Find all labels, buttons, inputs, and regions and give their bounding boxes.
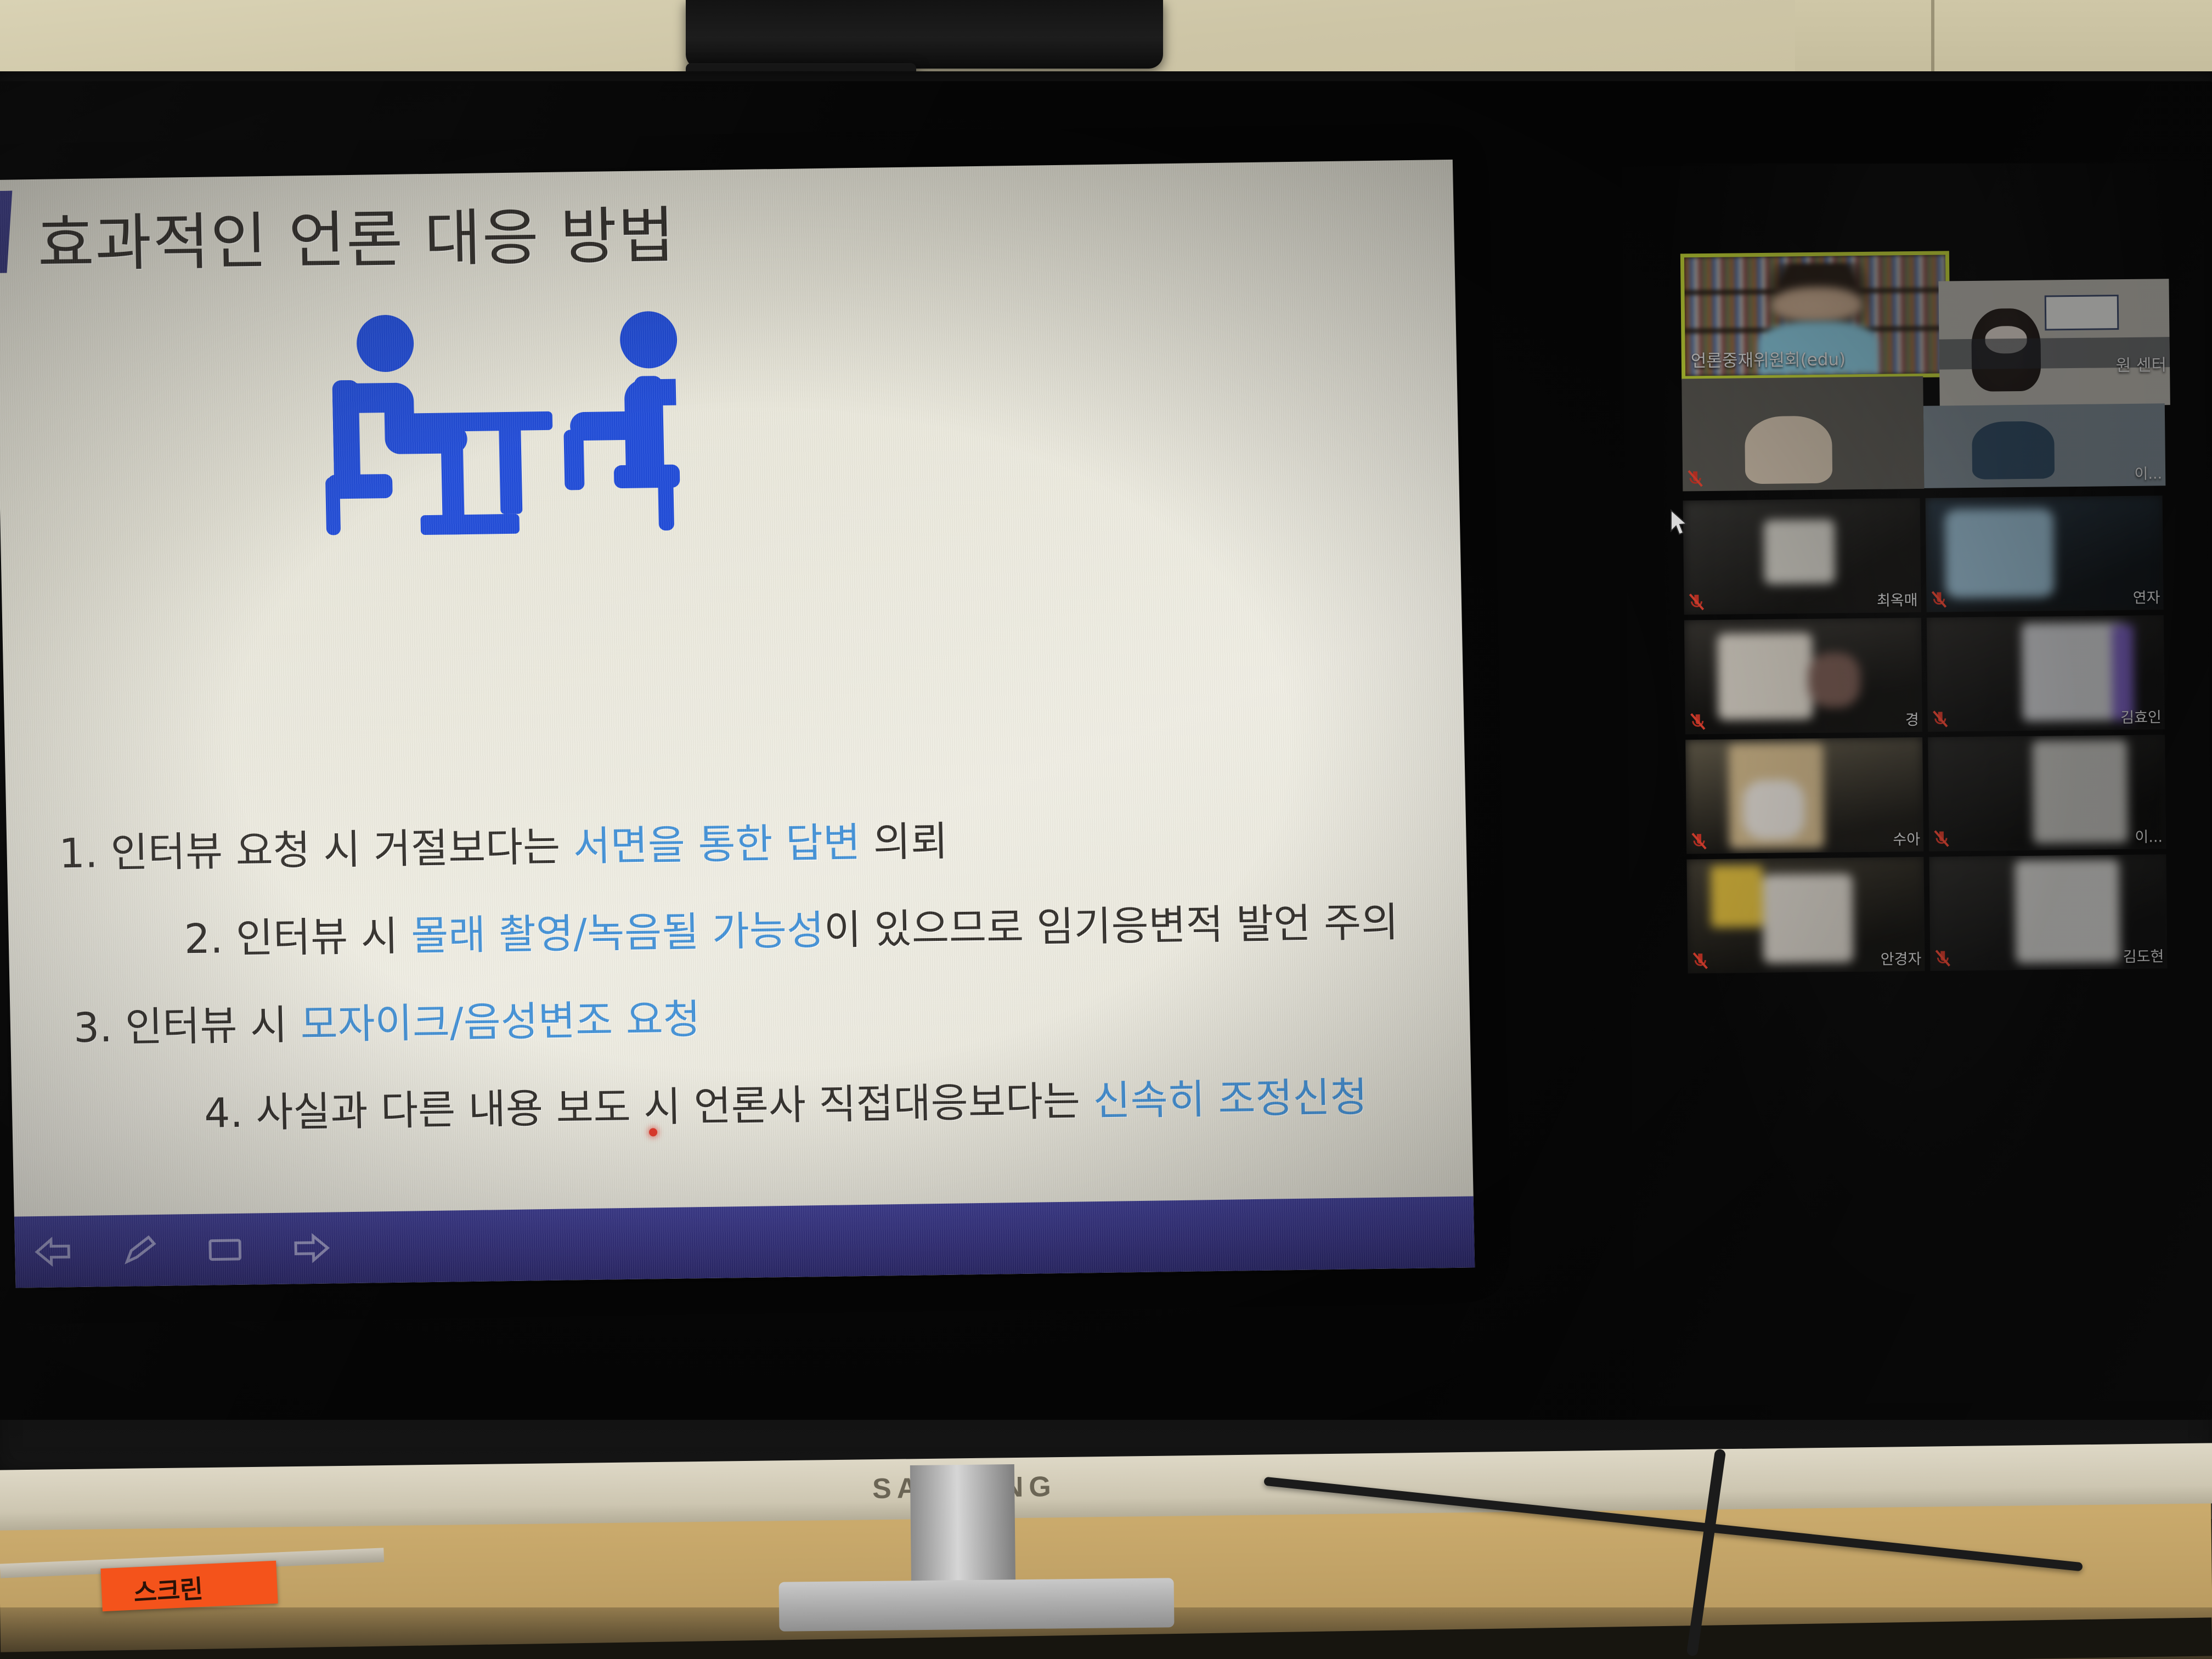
monitor-screen[interactable]: 효과적인 언론 대응 방법 [0, 81, 2212, 1420]
bullet-item-1: 1. 인터뷰 요청 시 거절보다는 서면을 통한 답변 의뢰 [6, 802, 1466, 881]
featured-tile-3[interactable]: 이... [1923, 403, 2166, 488]
title-accent-shape [0, 191, 14, 273]
bullet-item-4: 4. 사실과 다른 내용 보도 시 언론사 직접대응보다는 신속히 조정신청 [12, 1063, 1472, 1142]
samsung-monitor: 효과적인 언론 대응 방법 [0, 33, 2212, 1525]
video-conference-panel[interactable]: 언론중재위원회(edu) 원 센터 [1622, 161, 2212, 1407]
active-speaker-tile[interactable]: 언론중재위원회(edu) [1680, 251, 1950, 380]
bullet-tail-2: 이 있으므로 임기응변적 발언 주의 [823, 899, 1399, 954]
webcam-mount [686, 0, 1163, 69]
featured-tile-1[interactable]: 원 센터 [1938, 279, 2170, 407]
bullet-highlight-1: 서면을 통한 답변 [573, 819, 861, 870]
participant-tile[interactable]: 안경자 [1686, 857, 1925, 974]
bullet-lead-3: 인터뷰 시 [112, 1001, 301, 1051]
slide-menu-button[interactable] [206, 1233, 245, 1266]
bullet-number-2: 2. [184, 915, 223, 963]
participant-name-row: 수아 [1690, 827, 1920, 851]
featured-tile-2[interactable] [1681, 376, 1924, 492]
participant-grid: 최옥매 [1683, 495, 2168, 979]
interview-illustration-icon [303, 307, 736, 543]
next-slide-button[interactable] [291, 1232, 330, 1265]
pen-tool-button[interactable] [120, 1234, 159, 1267]
bullet-lead-1: 인터뷰 요청 시 거절보다는 [97, 823, 573, 877]
bullet-lead-4: 사실과 다른 내용 보도 시 언론사 직접대응보다는 [242, 1077, 1093, 1137]
bullet-highlight-2: 몰래 촬영/녹음될 가능성 [410, 907, 824, 960]
participant-tile[interactable]: 수아 [1685, 737, 1923, 854]
bullet-item-3: 3. 인터뷰 시 모자이크/음성변조 요청 [10, 976, 1470, 1055]
bullet-number-1: 1. [59, 830, 98, 877]
bullet-list: 1. 인터뷰 요청 시 거절보다는 서면을 통한 답변 의뢰 2. 인터뷰 시 … [6, 802, 1472, 1171]
participant-row: 안경자 [1686, 854, 2168, 973]
participant-row: 최옥매 [1683, 495, 2164, 614]
participant-tile[interactable]: 김효인 [1927, 615, 2165, 732]
participant-tile[interactable]: 김도현 [1929, 854, 2167, 971]
monitor-stand-neck [910, 1464, 1015, 1592]
participant-name: 이... [2135, 825, 2163, 847]
participant-tile[interactable]: 이... [1928, 735, 2166, 851]
featured-name-row-1: 원 센터 [1943, 351, 2166, 377]
participant-name: 연자 [2133, 585, 2160, 607]
participant-name-row: 연자 [1929, 585, 2160, 609]
video-frame [1938, 279, 2169, 281]
participant-name: 경 [1905, 708, 1919, 729]
featured-participant-name-1: 원 센터 [2115, 351, 2166, 376]
participant-tile[interactable]: 연자 [1926, 495, 2164, 612]
bullet-highlight-3: 모자이크/음성변조 요청 [300, 996, 701, 1048]
participant-name: 최옥매 [1877, 588, 1918, 610]
featured-name-row-3: 이... [1927, 461, 2162, 485]
slideshow-toolbar[interactable] [14, 1196, 1475, 1288]
featured-participant-name-3: 이... [2134, 461, 2162, 483]
previous-slide-button[interactable] [35, 1235, 74, 1268]
bullet-number-4: 4. [204, 1090, 243, 1137]
desk-label-text: 스크린 [132, 1569, 204, 1610]
desk-label: 스크린 [100, 1561, 278, 1611]
participant-row: 수아 [1685, 735, 2166, 854]
active-speaker-name-row: 언론중재위원회(edu) [1691, 344, 1943, 371]
bullet-tail-1: 의뢰 [860, 818, 948, 866]
slide-title: 효과적인 언론 대응 방법 [37, 186, 676, 284]
participant-name: 안경자 [1881, 947, 1922, 969]
bullet-highlight-4: 신속히 조정신청 [1093, 1074, 1368, 1125]
participant-name-row: 안경자 [1691, 947, 1921, 970]
presentation-slide[interactable]: 효과적인 언론 대응 방법 [0, 160, 1475, 1288]
participant-name: 수아 [1893, 827, 1920, 849]
active-speaker-name: 언론중재위원회(edu) [1691, 345, 1846, 371]
participant-name-row: 최옥매 [1687, 588, 1917, 612]
participant-tile[interactable]: 최옥매 [1683, 498, 1921, 615]
mouse-pointer-icon [1669, 509, 1688, 537]
laser-pointer-dot [649, 1128, 657, 1136]
participant-row: 경 [1684, 615, 2165, 734]
participant-name-row: 이... [1932, 825, 2163, 848]
bullet-number-3: 3. [73, 1004, 112, 1052]
featured-name-row-2 [1686, 486, 1921, 488]
participant-name-row: 김도현 [1933, 944, 2164, 968]
participant-name-row: 경 [1689, 708, 1919, 731]
participant-tile[interactable]: 경 [1684, 618, 1922, 735]
participant-name: 김효인 [2120, 705, 2162, 727]
bullet-item-2: 2. 인터뷰 시 몰래 촬영/녹음될 가능성이 있으므로 임기응변적 발언 주의 [8, 889, 1469, 968]
bullet-lead-2: 인터뷰 시 [223, 912, 412, 962]
room-photo: 효과적인 언론 대응 방법 [0, 0, 2212, 1659]
participant-name: 김도현 [2123, 944, 2164, 966]
featured-tiles: 언론중재위원회(edu) 원 센터 [1680, 249, 2165, 489]
participant-name-row: 김효인 [1931, 705, 2162, 729]
monitor-stand-base [779, 1578, 1175, 1632]
microphone-muted-icon [1687, 469, 1703, 488]
